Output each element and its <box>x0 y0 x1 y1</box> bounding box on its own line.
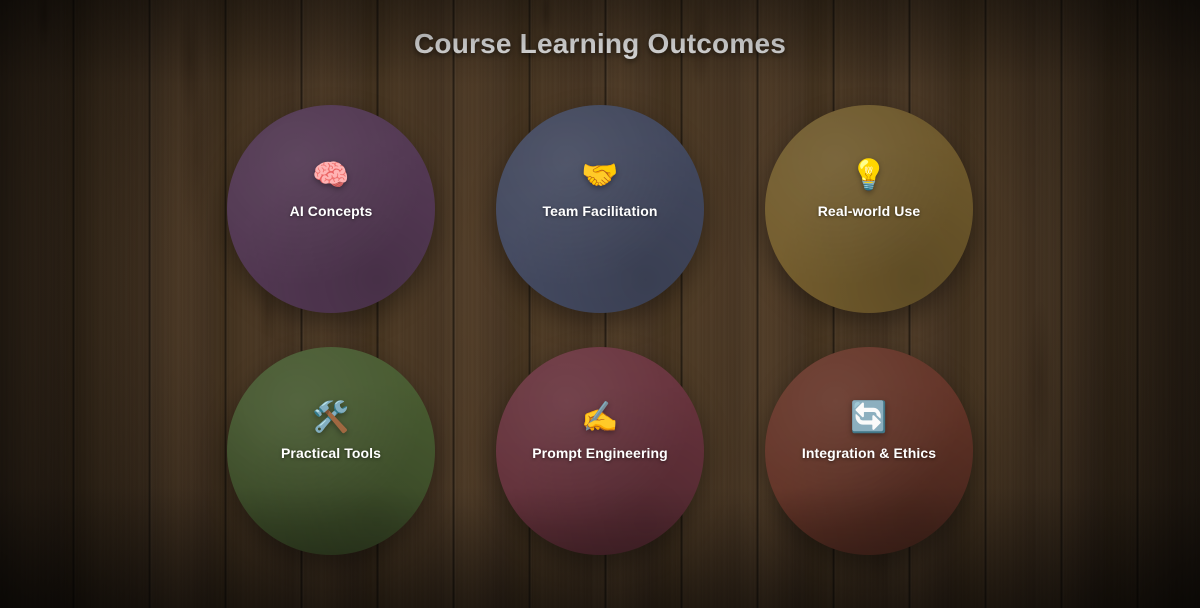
counterclockwise-arrows-icon: 🔄 <box>850 403 887 433</box>
bubble-content: 💡 Real-world Use <box>818 161 921 219</box>
handshake-icon: 🤝 <box>581 161 618 191</box>
bubble-content: 🔄 Integration & Ethics <box>802 403 936 461</box>
outcome-bubble-ai-concepts[interactable]: 🧠 AI Concepts <box>227 105 435 313</box>
outcomes-grid: 🧠 AI Concepts 🤝 Team Facilitation 💡 Real… <box>227 105 973 556</box>
outcome-label: Integration & Ethics <box>802 445 936 461</box>
outcome-label: AI Concepts <box>290 203 373 219</box>
bubble-content: 🛠️ Practical Tools <box>281 403 381 461</box>
outcome-bubble-practical-tools[interactable]: 🛠️ Practical Tools <box>227 347 435 555</box>
outcome-bubble-prompt-engineering[interactable]: ✍️ Prompt Engineering <box>496 347 704 555</box>
outcome-label: Real-world Use <box>818 203 921 219</box>
brain-icon: 🧠 <box>312 161 349 191</box>
writing-hand-icon: ✍️ <box>581 403 618 433</box>
outcome-label: Prompt Engineering <box>532 445 668 461</box>
outcome-bubble-team-facilitation[interactable]: 🤝 Team Facilitation <box>496 105 704 313</box>
bubble-content: ✍️ Prompt Engineering <box>532 403 668 461</box>
outcome-bubble-real-world-use[interactable]: 💡 Real-world Use <box>765 105 973 313</box>
lightbulb-icon: 💡 <box>850 161 887 191</box>
slide-canvas: Course Learning Outcomes 🧠 AI Concepts 🤝… <box>0 0 1200 608</box>
bubble-content: 🤝 Team Facilitation <box>542 161 657 219</box>
outcome-label: Practical Tools <box>281 445 381 461</box>
page-title: Course Learning Outcomes <box>0 28 1200 60</box>
hammer-and-wrench-icon: 🛠️ <box>312 403 349 433</box>
outcome-bubble-integration-and-ethics[interactable]: 🔄 Integration & Ethics <box>765 347 973 555</box>
outcome-label: Team Facilitation <box>542 203 657 219</box>
bubble-content: 🧠 AI Concepts <box>290 161 373 219</box>
